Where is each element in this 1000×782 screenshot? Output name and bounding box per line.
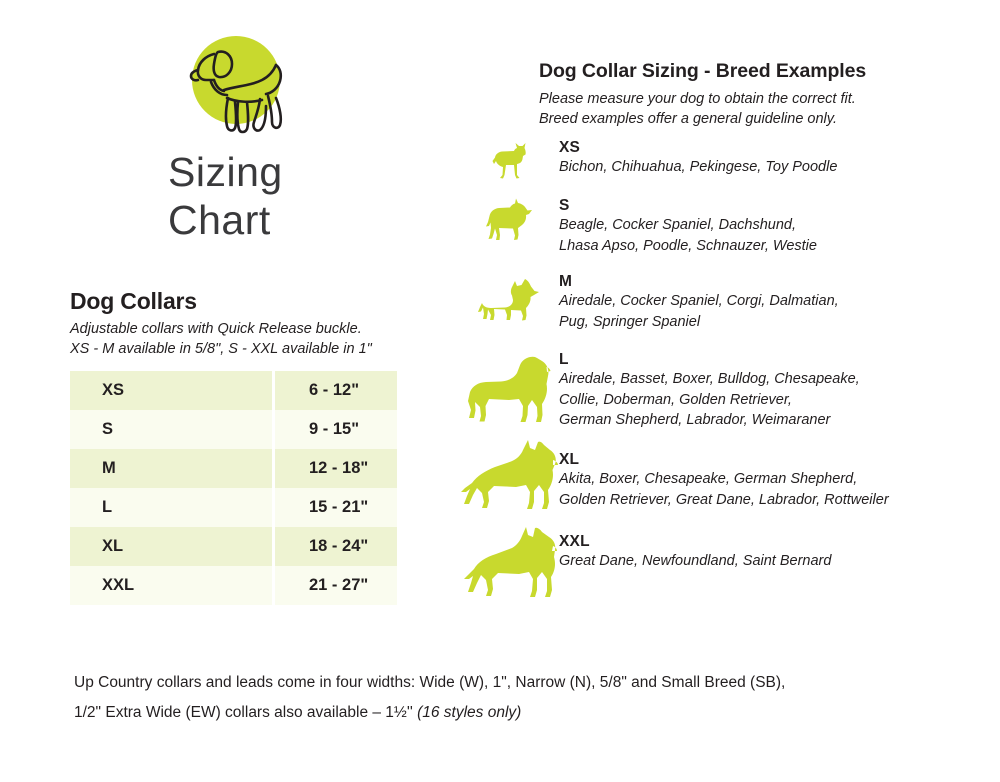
size-cell: M (70, 449, 274, 488)
range-cell: 21 - 27" (274, 566, 398, 605)
list-item: XXL Great Dane, Newfoundland, Saint Bern… (455, 532, 1000, 602)
page-title-line-1: Sizing (168, 148, 428, 196)
breed-text: L Airedale, Basset, Boxer, Bulldog, Ches… (559, 350, 999, 431)
breed-size-label: S (559, 196, 999, 215)
terrier-silhouette-icon (455, 198, 565, 244)
list-item: XL Akita, Boxer, Chesapeake, German Shep… (455, 450, 1000, 532)
breed-size-label: XXL (559, 532, 999, 551)
breed-size-label: M (559, 272, 999, 291)
breed-names: Beagle, Cocker Spaniel, Dachshund, Lhasa… (559, 215, 999, 256)
table-row: XL 18 - 24" (70, 527, 397, 566)
breed-names: Akita, Boxer, Chesapeake, German Shepher… (559, 469, 999, 510)
breed-text: M Airedale, Cocker Spaniel, Corgi, Dalma… (559, 272, 999, 332)
breed-names: Great Dane, Newfoundland, Saint Bernard (559, 551, 999, 572)
breed-examples-subtext-line-2: Breed examples offer a general guideline… (539, 109, 959, 129)
page-title-line-2: Chart (168, 196, 428, 244)
dog-with-collar-logo-icon (170, 32, 300, 147)
footnote: Up Country collars and leads come in fou… (74, 668, 964, 728)
footnote-line-2: 1/2" Extra Wide (EW) collars also availa… (74, 698, 964, 728)
size-cell: XL (70, 527, 274, 566)
dog-collars-heading: Dog Collars (70, 288, 197, 315)
breed-names-line: Golden Retriever, Great Dane, Labrador, … (559, 490, 999, 511)
range-cell: 15 - 21" (274, 488, 398, 527)
left-column: Sizing Chart Dog Collars Adjustable coll… (0, 0, 430, 640)
size-cell: L (70, 488, 274, 527)
german-shepherd-silhouette-icon (455, 438, 565, 516)
breed-size-label: L (559, 350, 999, 369)
list-item: XS Bichon, Chihuahua, Pekingese, Toy Poo… (455, 138, 1000, 196)
dog-collars-subtext: Adjustable collars with Quick Release bu… (70, 319, 410, 359)
range-cell: 12 - 18" (274, 449, 398, 488)
breed-examples-subtext: Please measure your dog to obtain the co… (539, 89, 959, 129)
size-cell: XXL (70, 566, 274, 605)
size-table: XS 6 - 12" S 9 - 15" M 12 - 18" L 15 - 2… (70, 371, 397, 605)
breed-size-label: XS (559, 138, 999, 157)
footnote-line-2-emphasis: (16 styles only) (417, 704, 521, 721)
breed-text: XS Bichon, Chihuahua, Pekingese, Toy Poo… (559, 138, 999, 178)
range-cell: 18 - 24" (274, 527, 398, 566)
breed-names-line: Lhasa Apso, Poodle, Schnauzer, Westie (559, 236, 999, 257)
breed-names-line: Great Dane, Newfoundland, Saint Bernard (559, 551, 999, 572)
breed-names: Airedale, Basset, Boxer, Bulldog, Chesap… (559, 369, 999, 431)
range-cell: 6 - 12" (274, 371, 398, 410)
table-row: S 9 - 15" (70, 410, 397, 449)
table-row: XS 6 - 12" (70, 371, 397, 410)
breed-text: S Beagle, Cocker Spaniel, Dachshund, Lha… (559, 196, 999, 256)
table-row: M 12 - 18" (70, 449, 397, 488)
breed-names-line: Airedale, Cocker Spaniel, Corgi, Dalmati… (559, 291, 999, 312)
size-cell: S (70, 410, 274, 449)
size-cell: XS (70, 371, 274, 410)
breed-size-label: XL (559, 450, 999, 469)
breed-names: Airedale, Cocker Spaniel, Corgi, Dalmati… (559, 291, 999, 332)
breed-names: Bichon, Chihuahua, Pekingese, Toy Poodle (559, 157, 999, 178)
breed-names-line: Pug, Springer Spaniel (559, 312, 999, 333)
breed-names-line: Collie, Doberman, Golden Retriever, (559, 390, 999, 411)
corgi-silhouette-icon (455, 276, 565, 324)
retriever-silhouette-icon (455, 354, 565, 424)
breed-examples-subtext-line-1: Please measure your dog to obtain the co… (539, 89, 959, 109)
breed-names-line: Bichon, Chihuahua, Pekingese, Toy Poodle (559, 157, 999, 178)
breed-names-line: Airedale, Basset, Boxer, Bulldog, Chesap… (559, 369, 999, 390)
breed-text: XL Akita, Boxer, Chesapeake, German Shep… (559, 450, 999, 510)
list-item: M Airedale, Cocker Spaniel, Corgi, Dalma… (455, 272, 1000, 350)
size-table-body: XS 6 - 12" S 9 - 15" M 12 - 18" L 15 - 2… (70, 371, 397, 605)
dog-collars-subtext-line-2: XS - M available in 5/8", S - XXL availa… (70, 339, 410, 359)
footnote-line-1: Up Country collars and leads come in fou… (74, 668, 964, 698)
great-dane-silhouette-icon (455, 526, 565, 602)
list-item: L Airedale, Basset, Boxer, Bulldog, Ches… (455, 350, 1000, 450)
breed-names-line: German Shepherd, Labrador, Weimaraner (559, 410, 999, 431)
footnote-line-2-main: 1/2" Extra Wide (EW) collars also availa… (74, 704, 417, 721)
range-cell: 9 - 15" (274, 410, 398, 449)
breed-names-line: Beagle, Cocker Spaniel, Dachshund, (559, 215, 999, 236)
breed-examples-heading: Dog Collar Sizing - Breed Examples (539, 60, 866, 83)
breed-names-line: Akita, Boxer, Chesapeake, German Shepher… (559, 469, 999, 490)
breed-text: XXL Great Dane, Newfoundland, Saint Bern… (559, 532, 999, 572)
right-column: Dog Collar Sizing - Breed Examples Pleas… (455, 0, 1000, 640)
dog-collars-subtext-line-1: Adjustable collars with Quick Release bu… (70, 319, 410, 339)
list-item: S Beagle, Cocker Spaniel, Dachshund, Lha… (455, 196, 1000, 272)
table-row: L 15 - 21" (70, 488, 397, 527)
breed-list: XS Bichon, Chihuahua, Pekingese, Toy Poo… (455, 138, 1000, 602)
table-row: XXL 21 - 27" (70, 566, 397, 605)
chihuahua-silhouette-icon (455, 142, 565, 182)
page-title: Sizing Chart (168, 148, 428, 244)
